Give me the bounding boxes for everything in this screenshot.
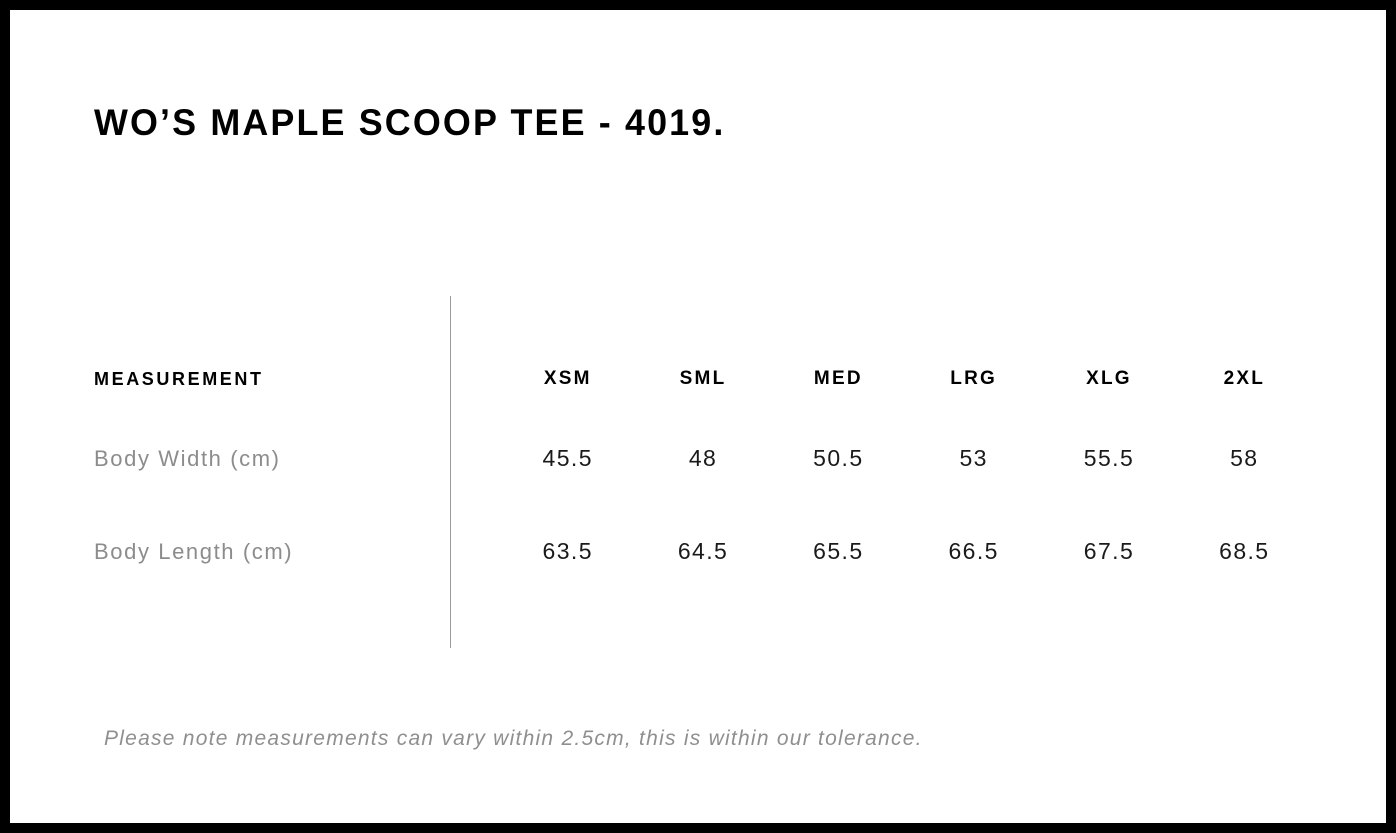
- cell-body-length-xsm: 63.5: [500, 505, 635, 598]
- cell-body-length-2xl: 68.5: [1177, 505, 1312, 598]
- table-header-row: MEASUREMENT XSM SML MED LRG XLG 2XL: [94, 346, 1312, 412]
- column-header-med: MED: [771, 346, 906, 412]
- cell-body-length-sml: 64.5: [635, 505, 770, 598]
- column-header-xsm: XSM: [500, 346, 635, 412]
- column-header-2xl: 2XL: [1177, 346, 1312, 412]
- tolerance-footnote: Please note measurements can vary within…: [104, 728, 923, 749]
- column-header-sml: SML: [635, 346, 770, 412]
- cell-body-length-med: 65.5: [771, 505, 906, 598]
- cell-body-length-lrg: 66.5: [906, 505, 1041, 598]
- cell-body-width-lrg: 53: [906, 412, 1041, 505]
- size-measurement-table: MEASUREMENT XSM SML MED LRG XLG 2XL Body…: [94, 346, 1312, 598]
- table-row: Body Width (cm) 45.5 48 50.5 53 55.5 58: [94, 412, 1312, 505]
- size-chart-card: WO’S MAPLE SCOOP TEE - 4019. MEASUREMENT…: [0, 0, 1396, 833]
- cell-body-width-xlg: 55.5: [1041, 412, 1176, 505]
- cell-body-length-xlg: 67.5: [1041, 505, 1176, 598]
- page-title: WO’S MAPLE SCOOP TEE - 4019.: [94, 104, 725, 141]
- table-row: Body Length (cm) 63.5 64.5 65.5 66.5 67.…: [94, 505, 1312, 598]
- row-label-body-width: Body Width (cm): [94, 412, 500, 505]
- column-header-xlg: XLG: [1041, 346, 1176, 412]
- size-chart-body: WO’S MAPLE SCOOP TEE - 4019. MEASUREMENT…: [10, 10, 1386, 823]
- cell-body-width-2xl: 58: [1177, 412, 1312, 505]
- cell-body-width-med: 50.5: [771, 412, 906, 505]
- column-header-lrg: LRG: [906, 346, 1041, 412]
- row-label-body-length: Body Length (cm): [94, 505, 500, 598]
- cell-body-width-xsm: 45.5: [500, 412, 635, 505]
- cell-body-width-sml: 48: [635, 412, 770, 505]
- column-header-measurement: MEASUREMENT: [94, 346, 500, 412]
